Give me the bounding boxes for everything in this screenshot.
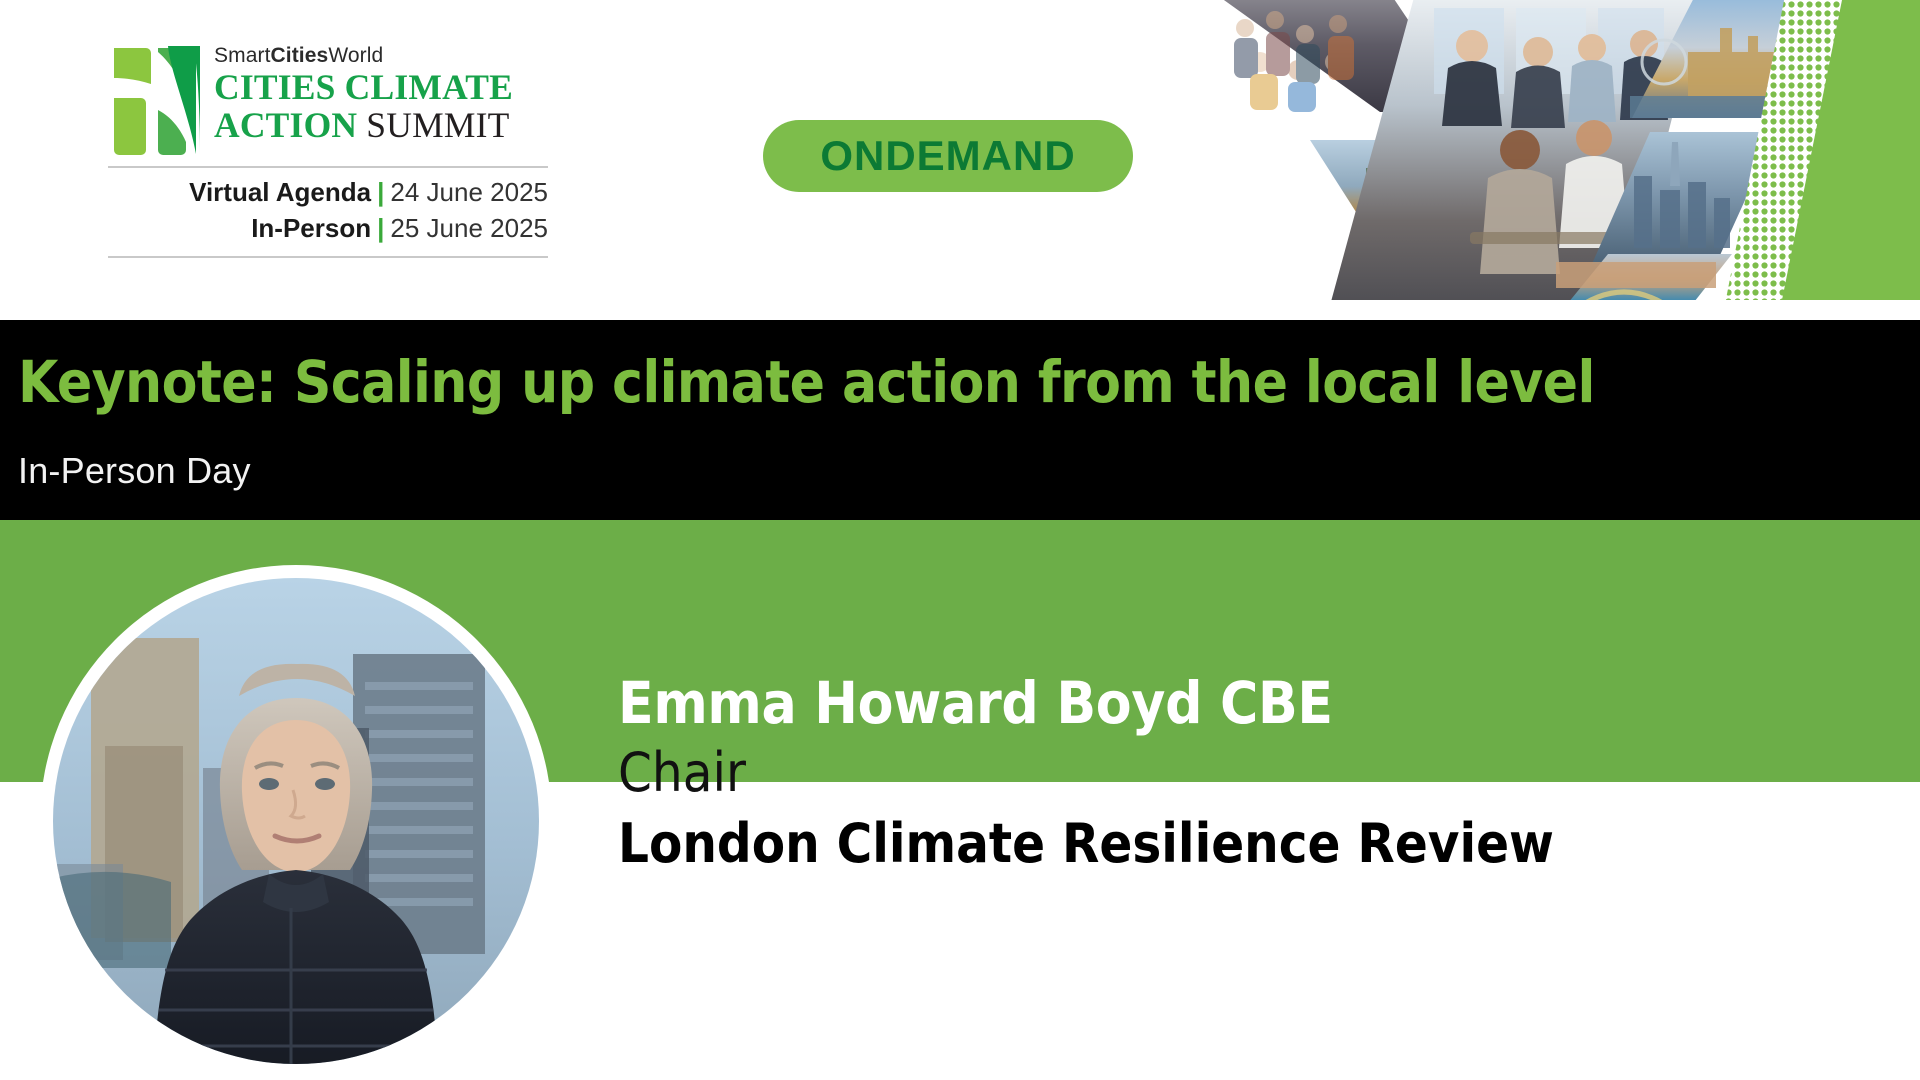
brand-wordmark: SmartCitiesWorld	[214, 44, 513, 67]
event-title-summit-word: SUMMIT	[366, 105, 509, 145]
session-title: Keynote: Scaling up climate action from …	[18, 348, 1595, 416]
ondemand-label: ONDEMAND	[820, 132, 1075, 180]
event-title-line1: CITIES CLIMATE	[214, 69, 513, 105]
date-separator: |	[371, 177, 390, 207]
date-value-virtual: 24 June 2025	[390, 177, 548, 207]
event-title-summit	[357, 105, 366, 145]
event-dates: Virtual Agenda|24 June 2025 In-Person|25…	[108, 175, 548, 247]
smartcitiesworld-logo-mark-icon	[108, 42, 200, 157]
brand-prefix: Smart	[214, 44, 271, 67]
speaker-avatar	[40, 565, 552, 1077]
session-bar: Keynote: Scaling up climate action from …	[0, 320, 1920, 520]
session-subtitle: In-Person Day	[18, 450, 251, 492]
event-photo-collage	[1220, 0, 1920, 320]
event-title-line2: ACTION SUMMIT	[214, 107, 513, 143]
brand-suffix: World	[328, 44, 383, 67]
logo-divider-top	[108, 166, 548, 168]
date-label-inperson: In-Person	[251, 213, 371, 243]
header: SmartCitiesWorld CITIES CLIMATE ACTION S…	[0, 0, 1920, 320]
speaker-details: Emma Howard Boyd CBE Chair London Climat…	[618, 672, 1868, 877]
speaker-name: Emma Howard Boyd CBE	[618, 672, 1868, 735]
date-value-inperson: 25 June 2025	[390, 213, 548, 243]
slide-canvas: SmartCitiesWorld CITIES CLIMATE ACTION S…	[0, 0, 1920, 1080]
date-row-inperson: In-Person|25 June 2025	[108, 211, 548, 247]
event-title-action: ACTION	[214, 105, 357, 145]
date-label-virtual: Virtual Agenda	[189, 177, 371, 207]
date-row-virtual: Virtual Agenda|24 June 2025	[108, 175, 548, 211]
date-separator: |	[371, 213, 390, 243]
logo-wordmark: SmartCitiesWorld CITIES CLIMATE ACTION S…	[214, 42, 513, 144]
speaker-organization: London Climate Resilience Review	[618, 811, 1608, 877]
brand-bold: Cities	[271, 44, 329, 67]
speaker-role: Chair	[618, 735, 1868, 812]
ondemand-badge[interactable]: ONDEMAND	[763, 120, 1133, 192]
speaker-portrait-photo	[53, 578, 539, 1064]
event-logo-block: SmartCitiesWorld CITIES CLIMATE ACTION S…	[108, 42, 548, 265]
logo-divider-bottom	[108, 256, 548, 258]
